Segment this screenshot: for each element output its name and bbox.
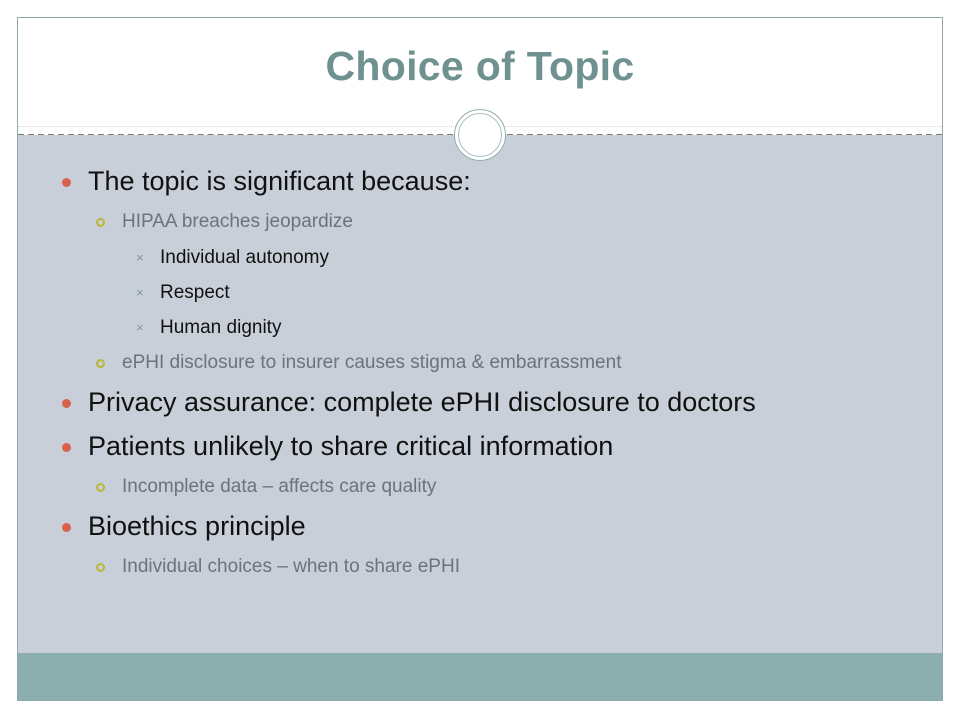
slide-body: The topic is significant because:HIPAA b… <box>18 135 942 653</box>
bullet-text: Patients unlikely to share critical info… <box>88 426 920 466</box>
page-title: Choice of Topic <box>18 44 942 89</box>
bullet-item-level-2: Individual choices – when to share ePHI <box>40 550 920 584</box>
filled-dot-icon <box>62 443 71 452</box>
bullet-item-level-2: Incomplete data – affects care quality <box>40 470 920 504</box>
bullet-text: ePHI disclosure to insurer causes stigma… <box>122 346 920 380</box>
presentation-slide: Choice of Topic The topic is significant… <box>17 17 943 701</box>
bullet-item-level-3: ×Human dignity <box>40 311 920 344</box>
bullet-text: Respect <box>160 276 920 309</box>
bullet-text: Individual autonomy <box>160 241 920 274</box>
cross-mark-icon: × <box>136 241 144 274</box>
circle-ornament-icon <box>454 109 506 161</box>
bullet-text: Human dignity <box>160 311 920 344</box>
hollow-circle-icon <box>96 563 105 572</box>
hollow-circle-icon <box>96 218 105 227</box>
bullet-item-level-2: HIPAA breaches jeopardize <box>40 205 920 239</box>
bullet-text: Privacy assurance: complete ePHI disclos… <box>88 382 920 422</box>
filled-dot-icon <box>62 523 71 532</box>
bullet-text: HIPAA breaches jeopardize <box>122 205 920 239</box>
bullet-item-level-1: Privacy assurance: complete ePHI disclos… <box>40 382 920 422</box>
cross-mark-icon: × <box>136 276 144 309</box>
hollow-circle-icon <box>96 359 105 368</box>
cross-mark-icon: × <box>136 311 144 344</box>
filled-dot-icon <box>62 178 71 187</box>
bullet-text: Individual choices – when to share ePHI <box>122 550 920 584</box>
bullet-item-level-3: ×Individual autonomy <box>40 241 920 274</box>
bullet-item-level-3: ×Respect <box>40 276 920 309</box>
bullet-text: Bioethics principle <box>88 506 920 546</box>
hollow-circle-icon <box>96 483 105 492</box>
bullet-item-level-2: ePHI disclosure to insurer causes stigma… <box>40 346 920 380</box>
bullet-item-level-1: The topic is significant because: <box>40 161 920 201</box>
filled-dot-icon <box>62 399 71 408</box>
bullet-item-level-1: Bioethics principle <box>40 506 920 546</box>
bullet-item-level-1: Patients unlikely to share critical info… <box>40 426 920 466</box>
bullet-list: The topic is significant because:HIPAA b… <box>40 161 920 584</box>
bullet-text: The topic is significant because: <box>88 161 920 201</box>
bullet-text: Incomplete data – affects care quality <box>122 470 920 504</box>
footer-band <box>18 653 942 700</box>
